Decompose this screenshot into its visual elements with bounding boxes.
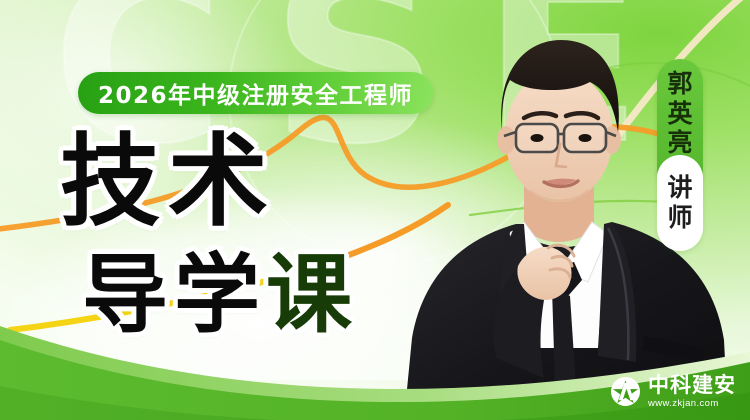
instructor-role-badge: 讲 师 (657, 155, 703, 251)
logo-website-url: www.zkjan.com (648, 399, 736, 409)
instructor-role-char-2: 师 (667, 203, 692, 233)
instructor-name-char-1: 郭 (667, 69, 692, 99)
badge-label: 2026年中级注册安全工程师 (98, 76, 413, 110)
course-poster: CSE 2026年中级注册安全工程师 技术 导学课 (0, 0, 750, 420)
logo-text-block: 中科建安 www.zkjan.com (648, 375, 736, 409)
logo-brand-name: 中科建安 (648, 375, 736, 396)
course-category-badge: 2026年中级注册安全工程师 (78, 72, 433, 114)
brand-logo: 中科建安 www.zkjan.com (610, 375, 736, 409)
zkjan-star-logo-icon (610, 376, 641, 407)
instructor-name-char-2: 英 (667, 99, 692, 129)
title-line-1: 技术 (60, 132, 358, 232)
instructor-name-char-3: 亮 (667, 128, 692, 158)
instructor-role-char-1: 讲 (667, 173, 692, 203)
